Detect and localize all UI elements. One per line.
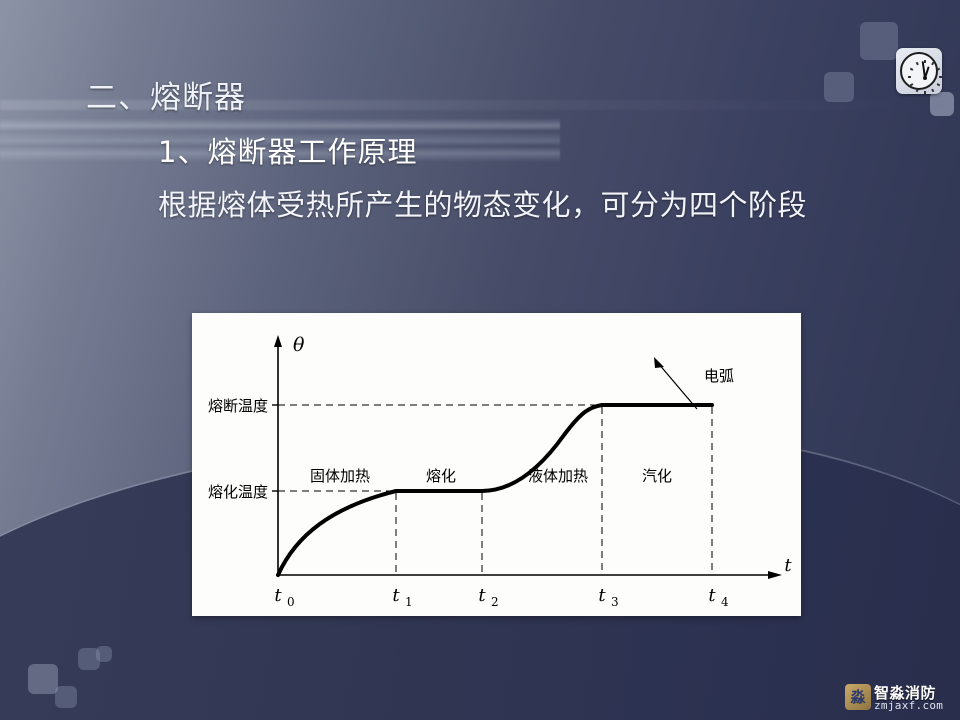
clock-tick (937, 68, 941, 71)
clock-tick (916, 89, 919, 93)
x-tick-sub-3: 3 (611, 595, 619, 609)
x-tick-sub-0: 0 (287, 595, 295, 609)
stage-label-liquid-heating: 液体加热 (528, 467, 588, 485)
clock-tick (924, 91, 926, 94)
decorative-square-bottom-left-4 (96, 646, 112, 662)
clock-icon (896, 48, 942, 94)
clock-tick (931, 62, 934, 66)
watermark-logo-icon: 淼 (845, 684, 871, 710)
x-tick-sub-4: 4 (721, 595, 729, 609)
svg-text:t: t (598, 585, 606, 606)
y-tick-label-melt-break: 熔断温度 (208, 397, 268, 415)
clock-face (900, 52, 938, 90)
slide-canvas: 二、熔断器 1、熔断器工作原理 根据熔体受热所产生的物态变化，可分为四个阶段 (0, 0, 960, 720)
clock-tick (931, 89, 934, 93)
decorative-square-top-right-1 (860, 22, 898, 60)
clock-tick (908, 76, 911, 78)
watermark-url: zmjaxf.com (874, 699, 943, 712)
stage-label-solid-heating: 固体加热 (310, 467, 370, 485)
clock-tick (916, 62, 919, 66)
section-subtitle: 1、熔断器工作原理 (158, 129, 417, 171)
page-title: 二、熔断器 (86, 72, 246, 117)
y-axis-symbol: θ (293, 334, 305, 356)
decorative-square-bottom-left-2 (55, 686, 77, 708)
watermark-logo-glyph: 淼 (850, 690, 865, 705)
decorative-square-bottom-left-1 (28, 664, 58, 694)
clock-tick (910, 68, 914, 71)
clock-tick (924, 60, 926, 63)
svg-text:t: t (708, 585, 716, 606)
svg-text:t: t (274, 585, 282, 606)
watermark: 淼 智淼消防 zmjaxf.com (845, 682, 957, 714)
clock-tick (939, 76, 942, 78)
decorative-square-top-right-3 (930, 92, 954, 116)
stage-label-vaporization: 汽化 (642, 467, 672, 485)
y-tick-label-melting: 熔化温度 (208, 483, 268, 501)
decorative-square-top-right-2 (824, 72, 854, 102)
annotation-label-arc: 电弧 (704, 367, 734, 385)
chart-background (192, 313, 801, 616)
clock-center-pin (923, 76, 927, 80)
svg-text:t: t (392, 585, 400, 606)
stage-label-melting: 熔化 (426, 467, 456, 485)
body-paragraph: 根据熔体受热所产生的物态变化，可分为四个阶段 (90, 182, 910, 228)
clock-tick (937, 83, 941, 86)
x-tick-sub-2: 2 (491, 595, 499, 609)
svg-text:t: t (478, 585, 486, 606)
temperature-time-chart: θ t 熔断温度 熔化温度 t 0 t 1 t 2 t 3 (192, 313, 801, 616)
chart-svg: θ t 熔断温度 熔化温度 t 0 t 1 t 2 t 3 (192, 313, 801, 616)
clock-tick (910, 83, 914, 86)
x-axis-symbol: t (784, 555, 792, 576)
x-tick-sub-1: 1 (405, 595, 413, 609)
